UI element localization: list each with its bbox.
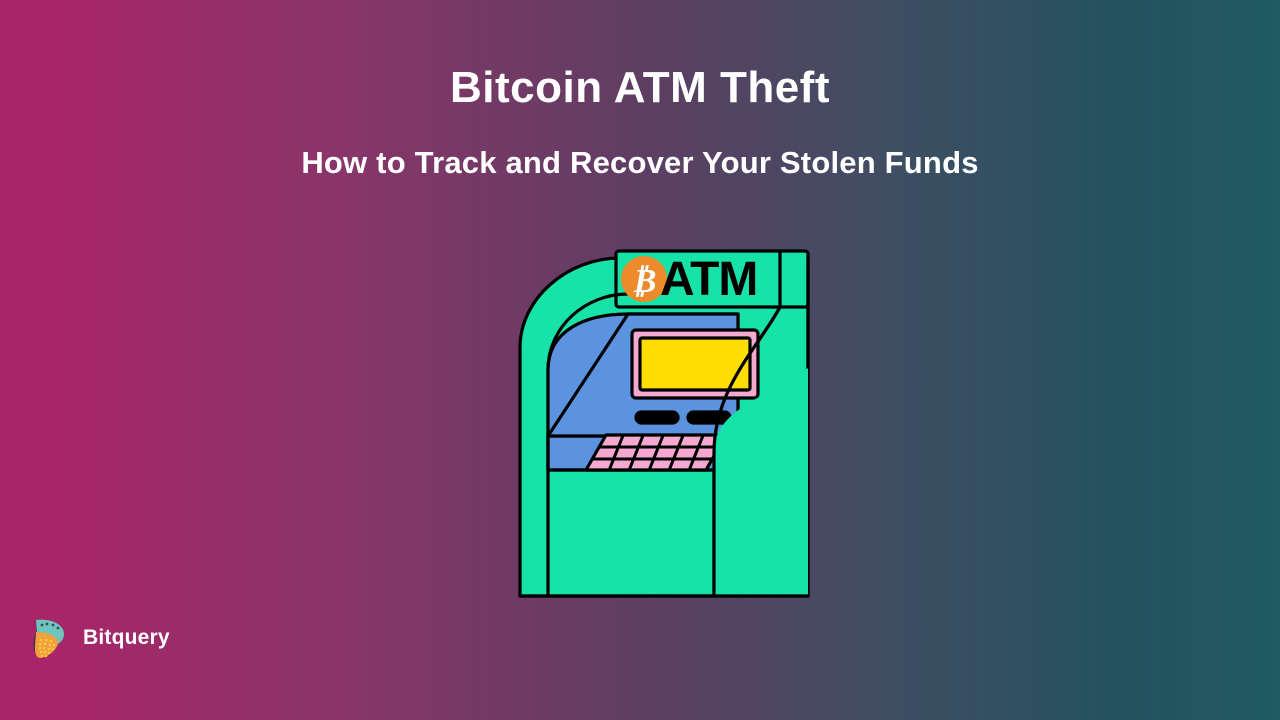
- bitquery-logo-icon: [28, 616, 70, 660]
- page-title: Bitcoin ATM Theft: [0, 62, 1280, 114]
- atm-cash-slot: [688, 412, 730, 423]
- bitquery-logo-svg: [28, 616, 70, 660]
- heading-block: Bitcoin ATM Theft How to Track and Recov…: [0, 62, 1280, 181]
- atm-card-slot: [636, 412, 678, 423]
- atm-illustration-svg: ₿ ATM: [508, 238, 828, 606]
- bitcoin-atm-illustration: ₿ ATM: [508, 238, 828, 606]
- slide-canvas: Bitcoin ATM Theft How to Track and Recov…: [0, 0, 1280, 720]
- brand-logo: Bitquery: [28, 616, 170, 660]
- brand-name: Bitquery: [83, 626, 170, 650]
- bitcoin-symbol-glyph: ₿: [631, 263, 656, 300]
- page-subtitle: How to Track and Recover Your Stolen Fun…: [0, 144, 1280, 181]
- atm-header-label: ATM: [660, 253, 757, 306]
